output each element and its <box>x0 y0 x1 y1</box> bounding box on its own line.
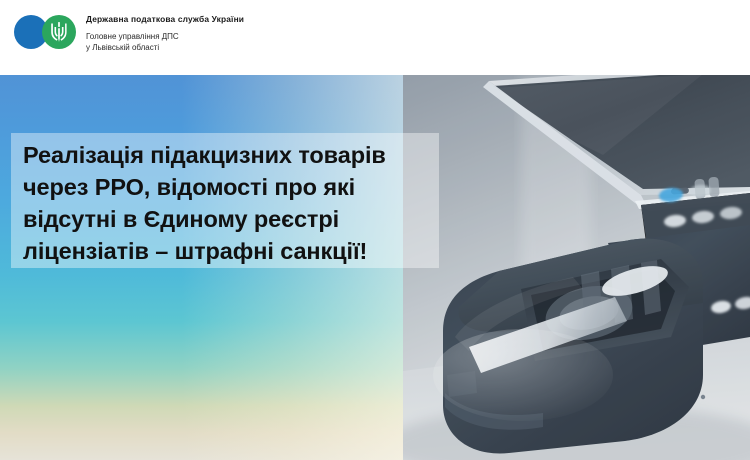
headline-overlay-card: Реалізація підакцизних товарів через РРО… <box>11 133 439 268</box>
headline-line-2: через РРО, відомості про які <box>23 171 439 203</box>
org-subtitle-line-1: Головне управління ДПС <box>86 32 244 43</box>
org-subtitle-line-2: у Львівській області <box>86 43 244 54</box>
org-subtitle: Головне управління ДПС у Львівській обла… <box>86 32 244 53</box>
ukraine-trident-icon <box>42 15 76 49</box>
org-identity: Державна податкова служба України Головн… <box>86 14 244 53</box>
headline-line-1: Реалізація підакцизних товарів <box>23 139 439 171</box>
headline-line-3: відсутні в Єдиному реєстрі <box>23 203 439 235</box>
org-title: Державна податкова служба України <box>86 14 244 25</box>
page-title: Реалізація підакцизних товарів через РРО… <box>23 139 439 267</box>
hero-banner: Реалізація підакцизних товарів через РРО… <box>0 75 750 460</box>
banner-page: Державна податкова служба України Головн… <box>0 0 750 460</box>
site-header: Державна податкова служба України Головн… <box>0 0 750 75</box>
headline-line-4: ліцензіатів – штрафні санкції! <box>23 235 439 267</box>
pos-terminal-photo <box>403 75 750 460</box>
dps-logo <box>14 15 76 51</box>
